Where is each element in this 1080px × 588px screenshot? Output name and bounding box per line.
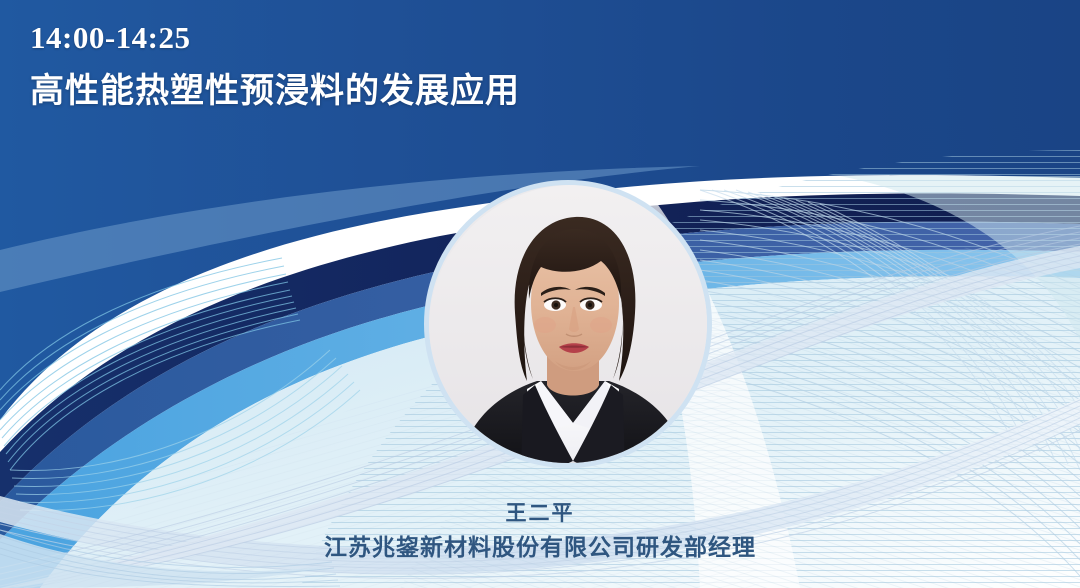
presentation-slide: 14:00-14:25 高性能热塑性预浸料的发展应用: [0, 0, 1080, 588]
speaker-role: 江苏兆鋆新材料股份有限公司研发部经理: [0, 534, 1080, 563]
page-title: 高性能热塑性预浸料的发展应用: [30, 71, 520, 112]
avatar-ring: [424, 180, 712, 468]
avatar: [424, 180, 712, 468]
slide-header: 14:00-14:25 高性能热塑性预浸料的发展应用: [30, 20, 520, 111]
speaker-name: 王二平: [0, 500, 1080, 526]
avatar-image: [429, 185, 712, 468]
speaker-info: 王二平 江苏兆鋆新材料股份有限公司研发部经理: [0, 500, 1080, 563]
session-time: 14:00-14:25: [30, 20, 520, 56]
